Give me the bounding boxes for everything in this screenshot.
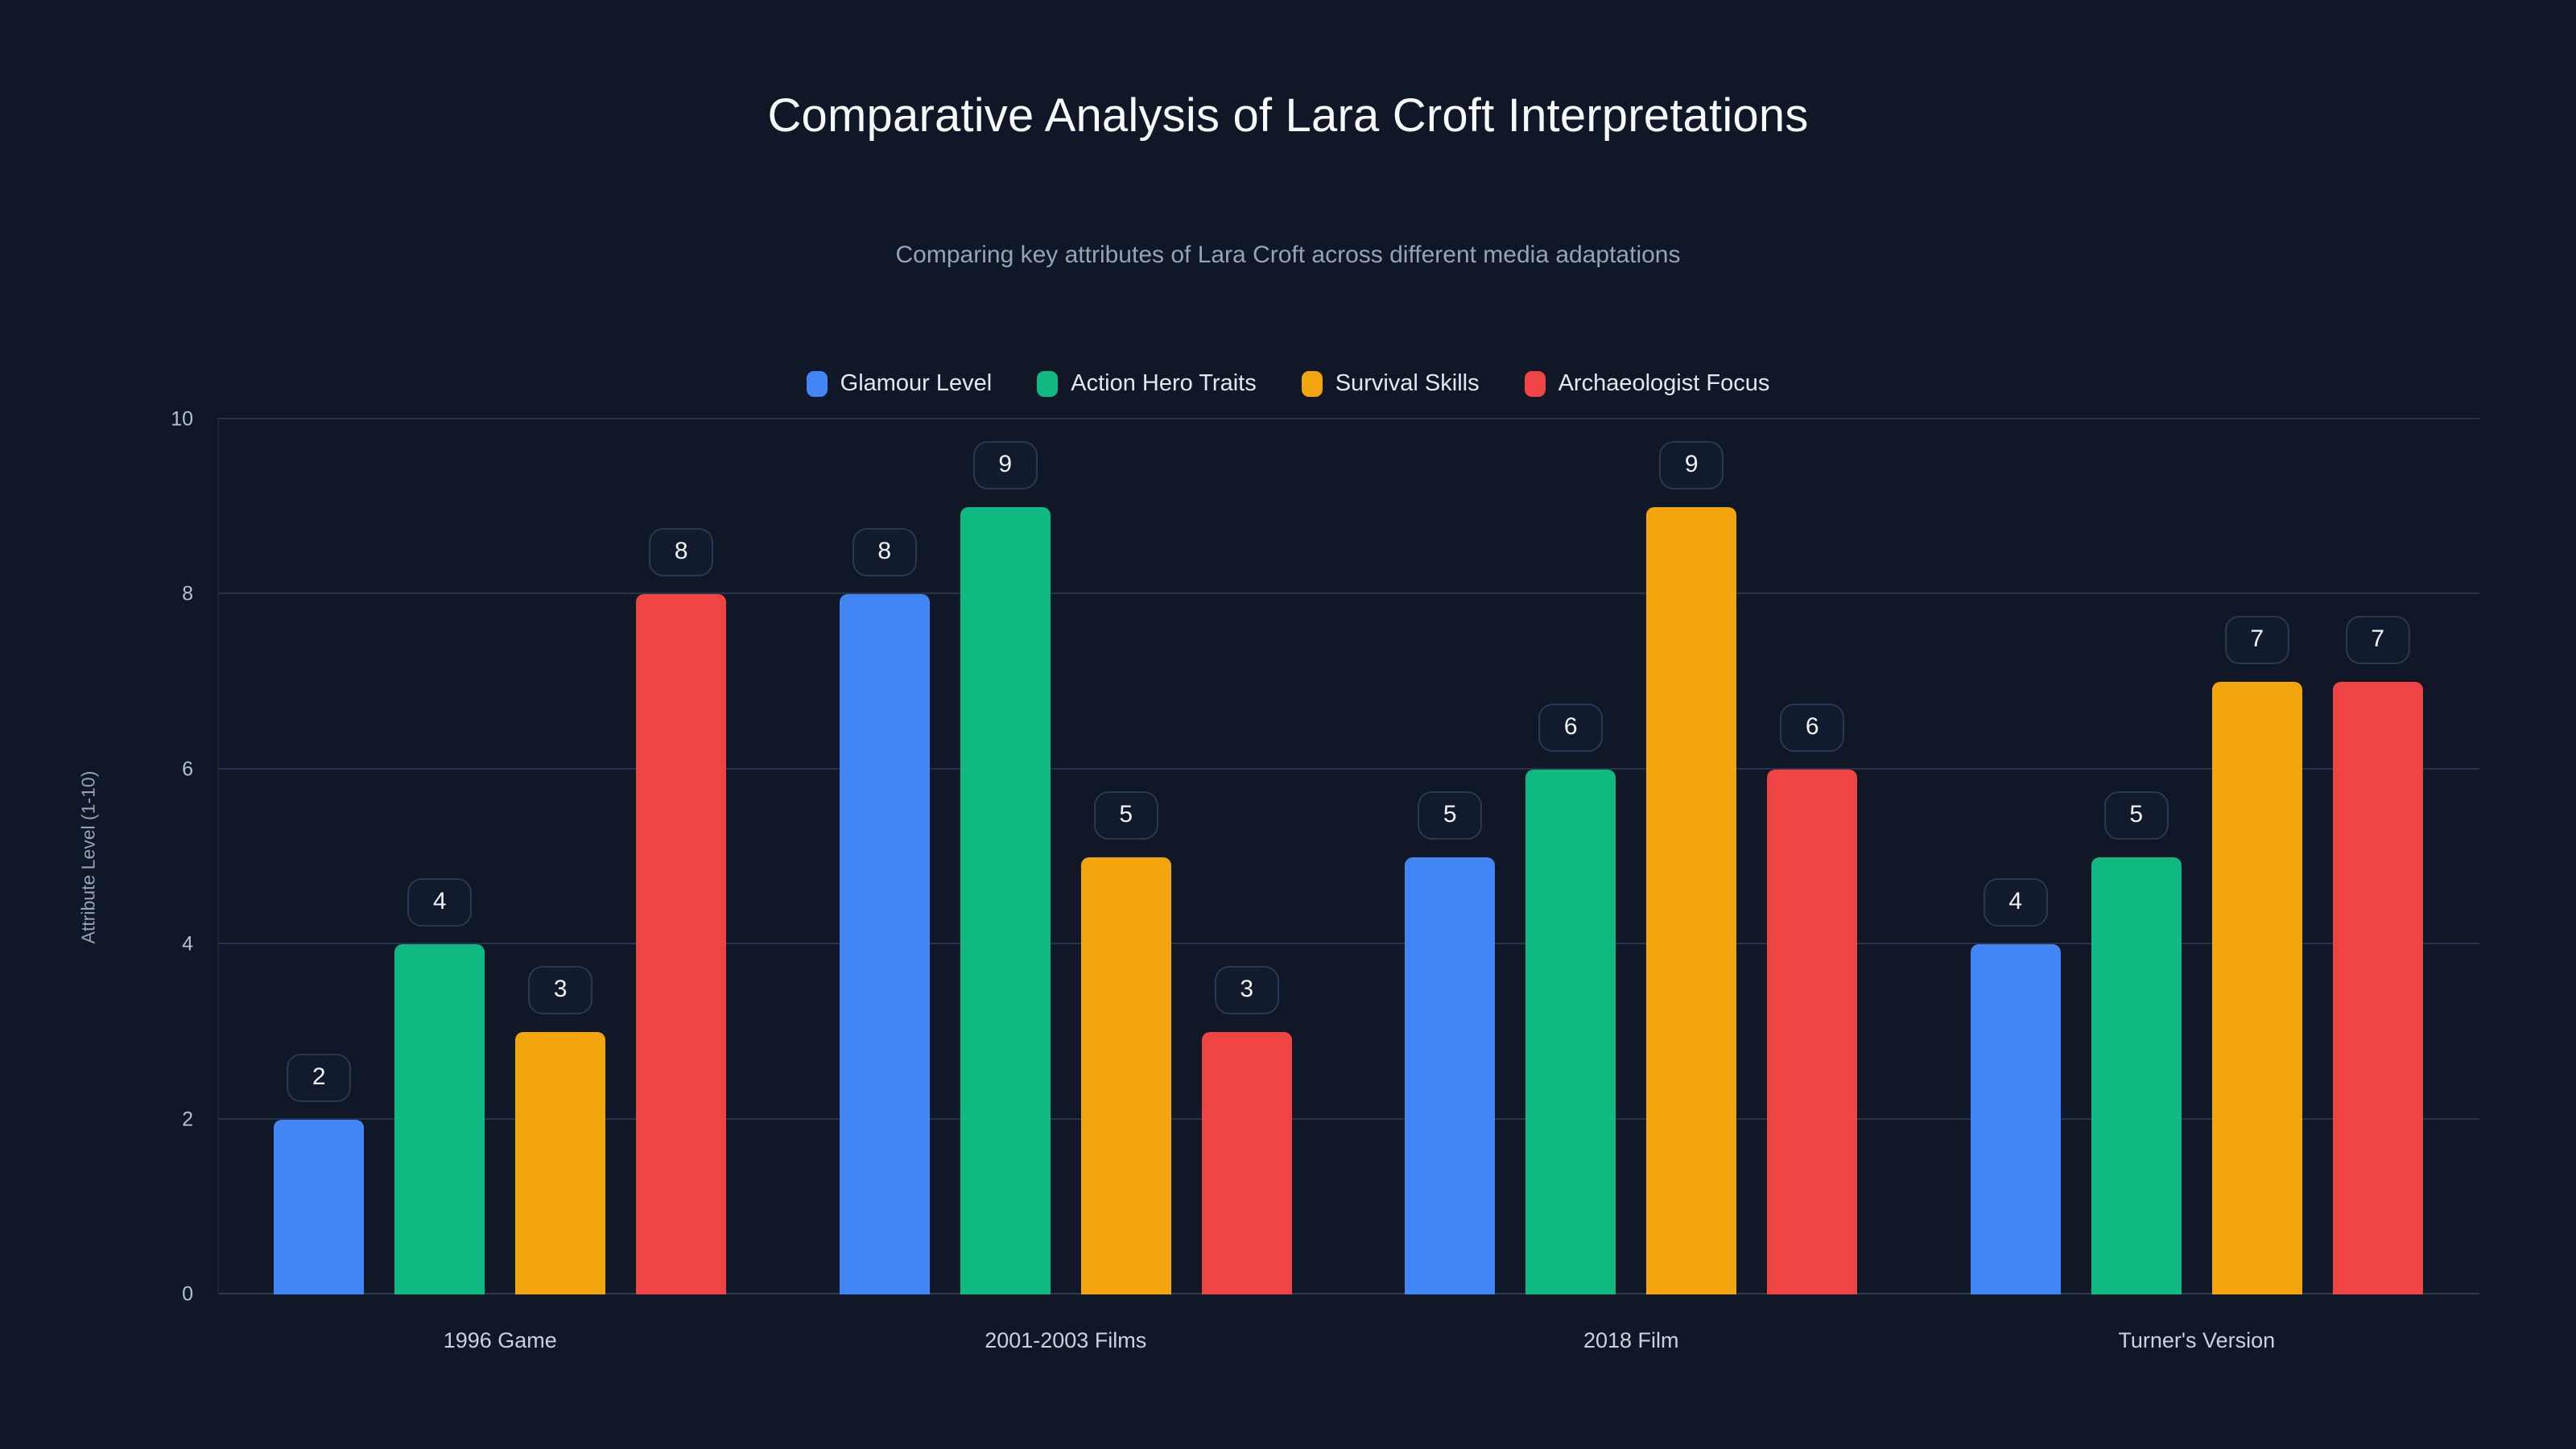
y-axis-tick-label: 4 [182,933,193,956]
y-axis-tick-label: 0 [182,1283,193,1307]
bar[interactable] [515,1032,605,1294]
chart-canvas: Comparative Analysis of Lara Croft Inter… [0,0,2576,1449]
bar-value-label: 5 [2104,791,2169,840]
bar-value-label: 9 [1659,441,1724,489]
gridline [217,768,2479,770]
bar[interactable] [636,594,726,1294]
bar[interactable] [960,507,1051,1294]
y-axis-line [217,419,219,1294]
bar[interactable] [1646,507,1736,1294]
bar[interactable] [274,1120,364,1294]
legend-color-swatch [1037,371,1058,397]
legend-item[interactable]: Action Hero Traits [1037,370,1256,397]
bar[interactable] [1767,770,1857,1294]
legend-item-label: Action Hero Traits [1071,370,1256,397]
bar[interactable] [1081,857,1171,1295]
legend-item-label: Glamour Level [840,370,993,397]
bar-value-label: 6 [1538,704,1603,752]
bar-value-label: 8 [649,528,713,576]
bar[interactable] [1971,944,2061,1294]
bar-value-label: 8 [852,528,917,576]
bar-value-label: 7 [2225,616,2289,664]
x-axis-category-label: 2018 Film [1583,1328,1679,1353]
bar-value-label: 6 [1780,704,1844,752]
legend-item[interactable]: Archaeologist Focus [1525,370,1770,397]
bar[interactable] [1405,857,1495,1295]
bar-value-label: 9 [973,441,1038,489]
y-axis-ticks: 0246810 [0,419,217,1294]
bar[interactable] [1525,770,1616,1294]
bar-value-label: 5 [1094,791,1158,840]
page-title: Comparative Analysis of Lara Croft Inter… [0,89,2576,142]
bar[interactable] [394,944,485,1294]
bar[interactable] [2212,682,2302,1294]
y-axis-tick-label: 10 [171,408,193,431]
bar[interactable] [840,594,930,1294]
bar-value-label: 4 [1984,878,2048,927]
x-axis-category-label: 2001-2003 Films [985,1328,1146,1353]
bar[interactable] [2333,682,2423,1294]
chart-subtitle: Comparing key attributes of Lara Croft a… [0,242,2576,269]
x-axis-category-label: Turner's Version [2118,1328,2275,1353]
bar[interactable] [2091,857,2182,1295]
bar-value-label: 4 [407,878,472,927]
bar-value-label: 7 [2346,616,2410,664]
bar-value-label: 3 [1215,966,1279,1014]
legend-item[interactable]: Glamour Level [807,370,993,397]
legend-item-label: Survival Skills [1335,370,1480,397]
bar-value-label: 3 [528,966,592,1014]
legend-item-label: Archaeologist Focus [1558,370,1770,397]
chart-legend: Glamour LevelAction Hero TraitsSurvival … [0,370,2576,397]
y-axis-tick-label: 8 [182,583,193,606]
legend-color-swatch [1302,371,1323,397]
plot-area: 2438895356964577 [217,419,2479,1294]
y-axis-tick-label: 2 [182,1108,193,1131]
bar-value-label: 2 [287,1054,351,1102]
y-axis-tick-label: 6 [182,758,193,781]
legend-item[interactable]: Survival Skills [1302,370,1480,397]
gridline [217,418,2479,419]
gridline [217,592,2479,594]
bar[interactable] [1202,1032,1292,1294]
bar-value-label: 5 [1418,791,1482,840]
legend-color-swatch [1525,371,1546,397]
legend-color-swatch [807,371,828,397]
x-axis-category-label: 1996 Game [444,1328,557,1353]
